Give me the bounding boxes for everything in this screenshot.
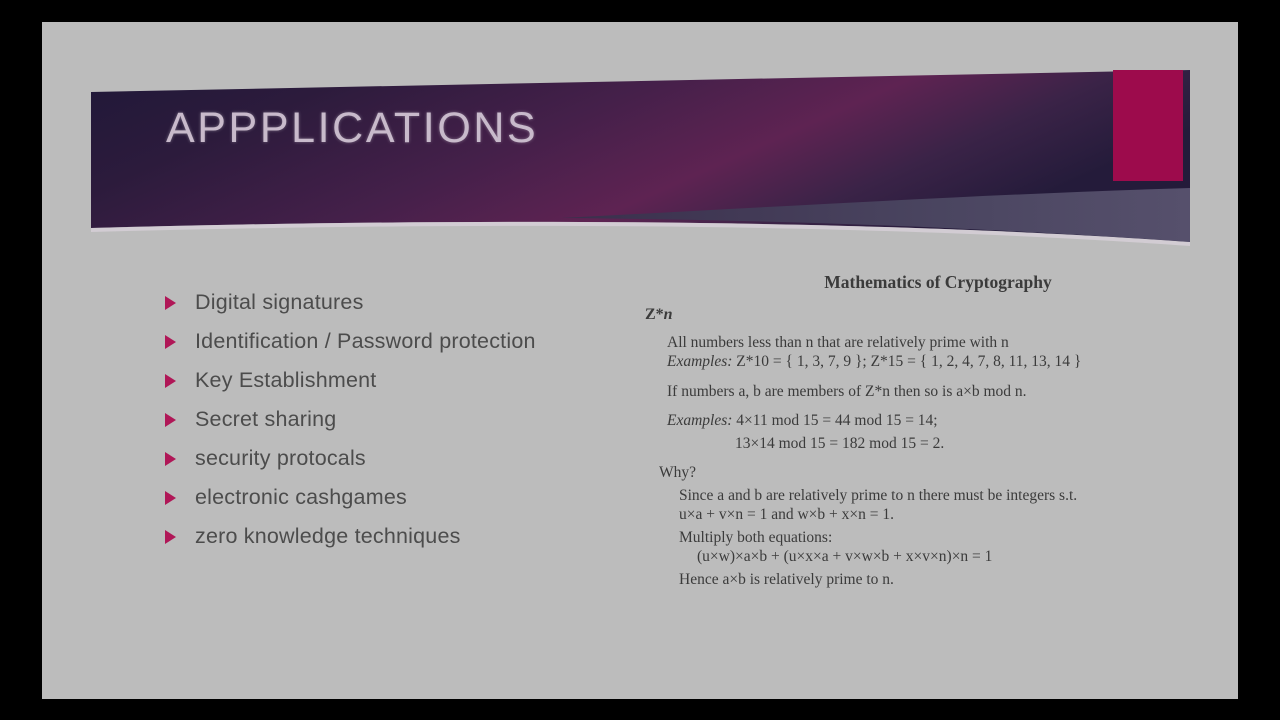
slide-header-banner	[91, 70, 1190, 260]
why-heading: Why?	[645, 465, 1205, 481]
page-title: APPPLICATIONS	[166, 104, 866, 153]
examples-sets-value: Z*10 = { 1, 3, 7, 9 }; Z*15 = { 1, 2, 4,…	[736, 353, 1081, 370]
screen-letterbox: APPPLICATIONS Digital signatures Identif…	[0, 0, 1280, 720]
banner-shape	[91, 70, 1190, 260]
list-item-label: electronic cashgames	[195, 485, 407, 510]
triangle-bullet-icon	[165, 530, 176, 544]
list-item[interactable]: Digital signatures	[163, 283, 633, 322]
zstar-label: Z*	[645, 306, 664, 323]
triangle-bullet-icon	[165, 335, 176, 349]
definition-line: All numbers less than n that are relativ…	[645, 335, 1205, 351]
mathematics-of-cryptography-panel: Mathematics of Cryptography Z*n All numb…	[645, 274, 1205, 594]
list-item-label: zero knowledge techniques	[195, 524, 461, 549]
examples-mod-value-1: 4×11 mod 15 = 44 mod 15 = 14;	[736, 412, 937, 429]
list-item-label: Digital signatures	[195, 290, 364, 315]
zstar-n-subheading: Z*n	[645, 307, 1205, 323]
list-item[interactable]: zero knowledge techniques	[163, 517, 633, 556]
list-item[interactable]: security protocals	[163, 439, 633, 478]
list-item[interactable]: Key Establishment	[163, 361, 633, 400]
examples-sets-label: Examples:	[667, 353, 732, 370]
closure-property-line: If numbers a, b are members of Z*n then …	[645, 384, 1205, 400]
applications-bullet-list: Digital signatures Identification / Pass…	[163, 283, 633, 556]
triangle-bullet-icon	[165, 452, 176, 466]
list-item[interactable]: Secret sharing	[163, 400, 633, 439]
triangle-bullet-icon	[165, 296, 176, 310]
examples-mod-line-2: 13×14 mod 15 = 182 mod 15 = 2.	[645, 436, 1205, 452]
crimson-accent-block	[1113, 70, 1183, 181]
zstar-n-label: n	[664, 306, 673, 323]
list-item-label: security protocals	[195, 446, 366, 471]
triangle-bullet-icon	[165, 491, 176, 505]
math-panel-heading: Mathematics of Cryptography	[645, 274, 1205, 292]
list-item-label: Identification / Password protection	[195, 329, 536, 354]
triangle-bullet-icon	[165, 374, 176, 388]
list-item[interactable]: Identification / Password protection	[163, 322, 633, 361]
list-item[interactable]: electronic cashgames	[163, 478, 633, 517]
why-line-5-conclusion: Hence a×b is relatively prime to n.	[645, 572, 1205, 588]
examples-sets-line: Examples: Z*10 = { 1, 3, 7, 9 }; Z*15 = …	[645, 354, 1205, 370]
why-line-1: Since a and b are relatively prime to n …	[645, 488, 1205, 504]
triangle-bullet-icon	[165, 413, 176, 427]
examples-mod-line-1: Examples: 4×11 mod 15 = 44 mod 15 = 14;	[645, 413, 1205, 429]
why-line-3: Multiply both equations:	[645, 530, 1205, 546]
presentation-slide: APPPLICATIONS Digital signatures Identif…	[42, 22, 1238, 699]
list-item-label: Secret sharing	[195, 407, 336, 432]
why-line-4-equation: (u×w)×a×b + (u×x×a + v×w×b + x×v×n)×n = …	[645, 549, 1205, 565]
examples-mod-label: Examples:	[667, 412, 732, 429]
list-item-label: Key Establishment	[195, 368, 376, 393]
why-line-2: u×a + v×n = 1 and w×b + x×n = 1.	[645, 507, 1205, 523]
